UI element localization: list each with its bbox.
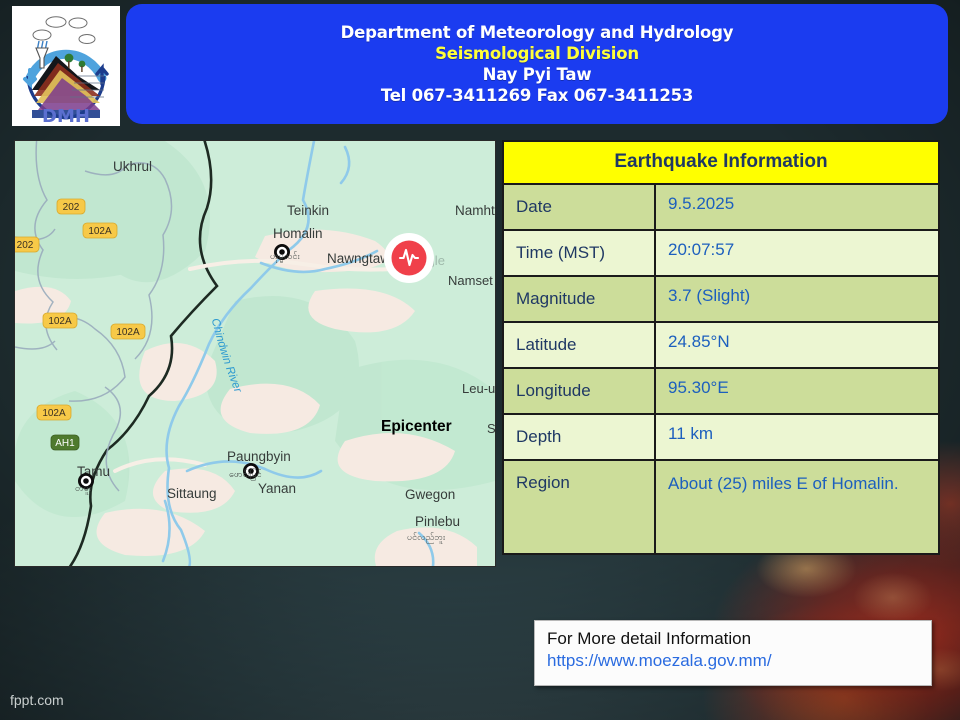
more-info-text: For More detail Information — [547, 628, 931, 650]
more-info-box: For More detail Information https://www.… — [534, 620, 932, 686]
table-row-key: Time (MST) — [504, 231, 656, 275]
table-row-value: 95.30°E — [656, 369, 938, 413]
table-row-key: Longitude — [504, 369, 656, 413]
map-place: Gwegon — [405, 487, 455, 502]
table-title: Earthquake Information — [614, 151, 827, 172]
banner-line-division: Seismological Division — [435, 44, 639, 63]
map-road-shield: 202 — [57, 199, 85, 214]
map-road-shield: AH1 — [51, 435, 79, 450]
earthquake-map[interactable]: Chindwin River Google 202202102A102A102A… — [14, 140, 496, 567]
map-road-shield: 102A — [83, 223, 117, 238]
map-place: Leu-u — [462, 381, 495, 396]
map-road-shield-label: AH1 — [55, 438, 75, 449]
dmh-logo-graphic: DMH — [12, 6, 120, 126]
map-canvas: Chindwin River Google 202202102A102A102A… — [15, 141, 495, 566]
map-place-label: Nawngtaw — [327, 251, 390, 266]
dmh-logo-text: DMH — [42, 106, 90, 126]
map-road-shield-label: 202 — [63, 202, 80, 213]
map-place-label: Paungbyin — [227, 449, 291, 464]
table-row: Date9.5.2025 — [504, 185, 938, 231]
table-row-value: 11 km — [656, 415, 938, 459]
map-place-label: Namhta — [455, 203, 495, 218]
table-title-row: Earthquake Information — [504, 142, 938, 185]
map-place-label: Gwegon — [405, 487, 455, 502]
map-place-label: Sittaung — [167, 486, 217, 501]
table-row-value: 20:07:57 — [656, 231, 938, 275]
map-place: Yanan — [258, 481, 296, 496]
table-row: Time (MST)20:07:57 — [504, 231, 938, 277]
map-place-label-burmese: ပင်လည်ဘူး — [407, 532, 446, 544]
map-place: Pinlebu — [415, 514, 460, 529]
map-place-label: Teinkin — [287, 203, 329, 218]
map-road-shield-label: 102A — [116, 327, 140, 338]
map-road-shield: 102A — [43, 313, 77, 328]
table-row-key: Date — [504, 185, 656, 229]
map-place: Teinkin — [287, 203, 329, 218]
table-row: Longitude95.30°E — [504, 369, 938, 415]
map-place: Namset — [448, 273, 493, 288]
map-place-label: Namset — [448, 273, 493, 288]
table-row-key: Latitude — [504, 323, 656, 367]
epicenter-label: Epicenter — [381, 418, 452, 436]
table-row-key: Depth — [504, 415, 656, 459]
table-body: Date9.5.2025Time (MST)20:07:57Magnitude3… — [504, 185, 938, 553]
map-place-label-burmese: ဟုမ္မလင်း — [270, 251, 300, 263]
map-place-label: S — [487, 421, 495, 436]
map-place-label: Homalin — [273, 226, 323, 241]
map-road-shield-label: 102A — [48, 316, 72, 327]
map-road-shield: 202 — [15, 237, 39, 252]
map-road-shield: 102A — [37, 405, 71, 420]
more-info-link[interactable]: https://www.moezala.gov.mm/ — [547, 650, 931, 672]
map-place: Ukhrul — [113, 159, 152, 174]
epicenter-marker[interactable] — [384, 233, 434, 283]
earthquake-info-table: Earthquake Information Date9.5.2025Time … — [502, 140, 940, 555]
map-place-label: Pinlebu — [415, 514, 460, 529]
table-row: Magnitude3.7 (Slight) — [504, 277, 938, 323]
map-place: Nawngtaw — [327, 251, 390, 266]
map-road-shield: 102A — [111, 324, 145, 339]
banner-line-department: Department of Meteorology and Hydrology — [341, 23, 734, 42]
table-row-value: 24.85°N — [656, 323, 938, 367]
table-row-value: 3.7 (Slight) — [656, 277, 938, 321]
map-place-label: Ukhrul — [113, 159, 152, 174]
table-row: RegionAbout (25) miles E of Homalin. — [504, 461, 938, 553]
table-row-key: Magnitude — [504, 277, 656, 321]
table-row: Depth 11 km — [504, 415, 938, 461]
map-place-label: Leu-u — [462, 381, 495, 396]
map-place-label-burmese: တမူး — [75, 484, 92, 495]
table-row-key: Region — [504, 461, 656, 553]
table-row: Latitude24.85°N — [504, 323, 938, 369]
banner-line-contact: Tel 067-3411269 Fax 067-3411253 — [381, 86, 693, 105]
fppt-watermark: fppt.com — [10, 692, 64, 708]
map-place-label: Yanan — [258, 481, 296, 496]
map-road-shield-label: 102A — [42, 408, 66, 419]
map-place-label-burmese: ဖောင်းပြင် — [229, 468, 262, 481]
header-banner: Department of Meteorology and Hydrology … — [126, 4, 948, 124]
table-row-value: About (25) miles E of Homalin. — [656, 461, 938, 553]
table-row-value: 9.5.2025 — [656, 185, 938, 229]
map-place: Namhta — [455, 203, 495, 218]
map-place: S — [487, 421, 495, 436]
dmh-logo: DMH — [12, 6, 120, 126]
map-road-shield-label: 102A — [88, 226, 112, 237]
banner-line-city: Nay Pyi Taw — [483, 65, 592, 84]
map-place: Sittaung — [167, 486, 217, 501]
map-road-shield-label: 202 — [17, 240, 34, 251]
map-city-marker-dot — [83, 478, 89, 484]
